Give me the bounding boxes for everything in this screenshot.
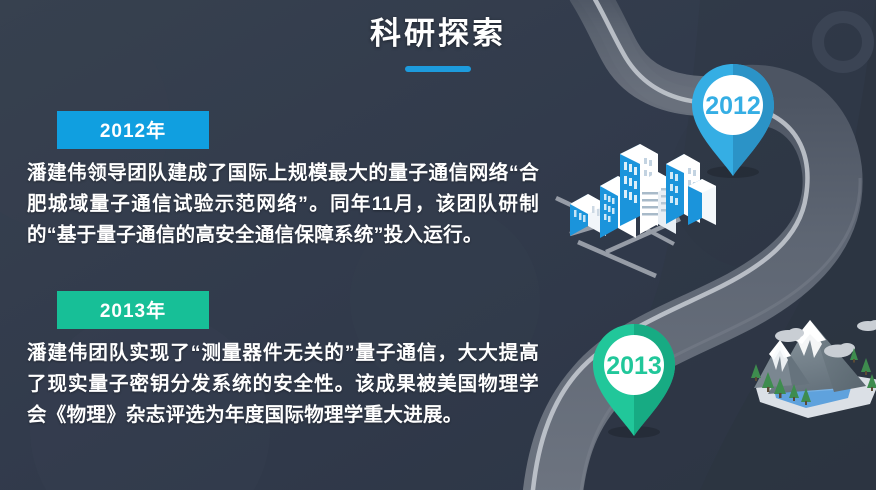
timeline-entry-2013: 2013年 潘建伟团队实现了“测量器件无关的”量子通信，大大提高了现实量子密钥分…	[27, 291, 547, 431]
year-badge-2013: 2013年	[57, 291, 209, 329]
map-pin-2013[interactable]: 2013	[587, 322, 681, 440]
pin-label-2012: 2012	[705, 92, 761, 120]
pin-label-2013: 2013	[606, 352, 662, 380]
slide-canvas: 科研探索 2012年 潘建伟领导团队建成了国际上规模最大的量子通信网络“合肥城域…	[0, 0, 876, 490]
title-underline	[405, 66, 471, 72]
map-pin-2012[interactable]: 2012	[686, 62, 780, 180]
entry-body-2012: 潘建伟领导团队建成了国际上规模最大的量子通信网络“合肥城域量子通信试验示范网络”…	[27, 158, 539, 251]
timeline-entry-2012: 2012年 潘建伟领导团队建成了国际上规模最大的量子通信网络“合肥城域量子通信试…	[27, 111, 547, 251]
year-badge-2012: 2012年	[57, 111, 209, 149]
entry-body-2013: 潘建伟团队实现了“测量器件无关的”量子通信，大大提高了现实量子密钥分发系统的安全…	[27, 338, 539, 431]
page-title: 科研探索	[0, 14, 876, 54]
